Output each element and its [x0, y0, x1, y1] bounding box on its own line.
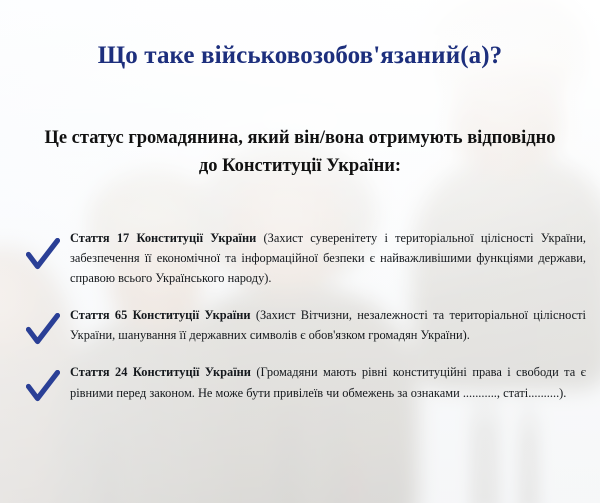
list-item-text: Стаття 65 Конституції України (Захист Ві… — [70, 305, 586, 345]
list-item: Стаття 24 Конституції України (Громадяни… — [0, 362, 600, 402]
article-label: Стаття 17 Конституції України — [70, 231, 256, 245]
page-title: Що таке військовозобов'язаний(а)? — [0, 42, 600, 70]
checkmark-icon — [26, 370, 60, 402]
checkmark-icon — [26, 313, 60, 345]
poster-content: Що таке військовозобов'язаний(а)? Це ста… — [0, 0, 600, 503]
list-item-text: Стаття 24 Конституції України (Громадяни… — [70, 362, 586, 402]
article-label: Стаття 24 Конституції України — [70, 365, 251, 379]
article-label: Стаття 65 Конституції України — [70, 308, 251, 322]
subtitle-text: Це статус громадянина, який він/вона отр… — [40, 124, 560, 180]
checkmark-icon — [26, 238, 60, 270]
list-item: Стаття 17 Конституції України (Захист су… — [0, 228, 600, 288]
list-item-text: Стаття 17 Конституції України (Захист су… — [70, 228, 586, 288]
list-item: Стаття 65 Конституції України (Захист Ві… — [0, 305, 600, 345]
articles-list: Стаття 17 Конституції України (Захист су… — [0, 228, 600, 403]
informational-poster: Що таке військовозобов'язаний(а)? Це ста… — [0, 0, 600, 503]
